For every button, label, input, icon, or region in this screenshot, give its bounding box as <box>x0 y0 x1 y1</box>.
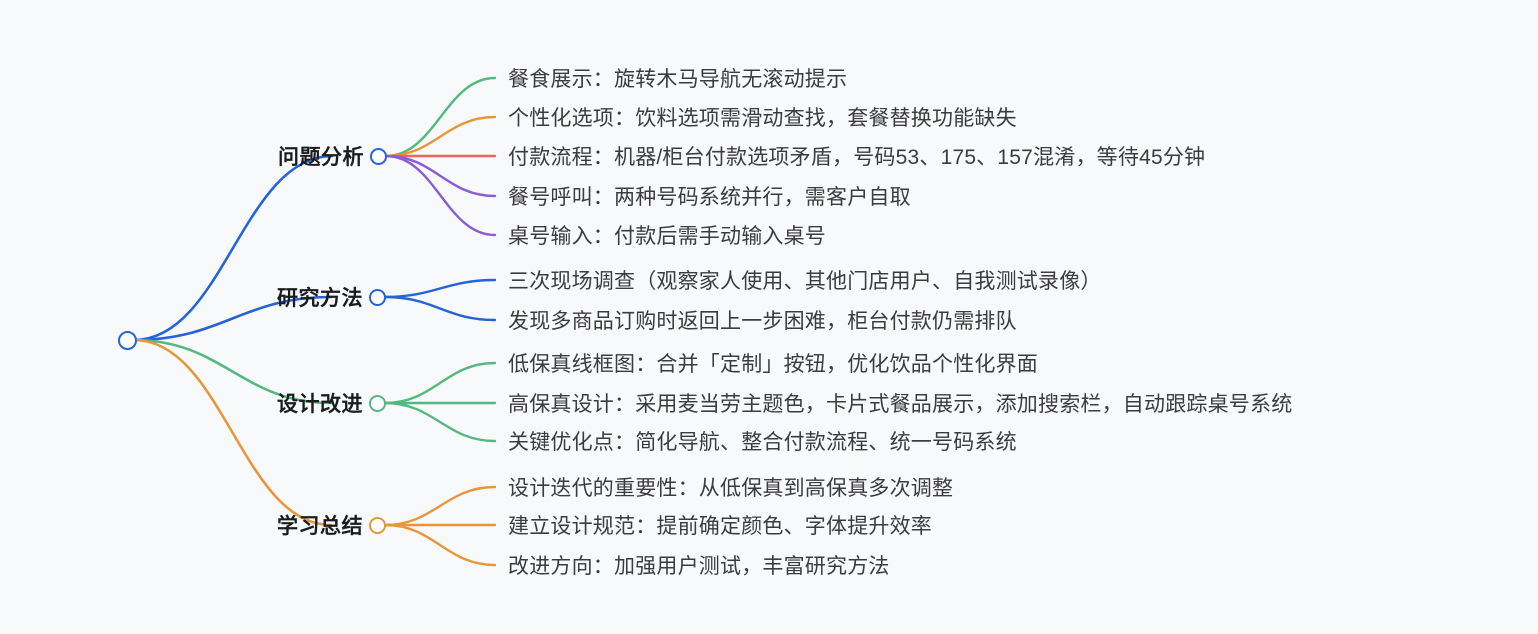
branch-label-1[interactable]: 问题分析 <box>278 141 364 171</box>
leaf-label-4-1[interactable]: 设计迭代的重要性：从低保真到高保真多次调整 <box>508 472 953 502</box>
branch-label-3[interactable]: 设计改进 <box>277 388 363 418</box>
edge-branch-1-to-leaf-1 <box>386 78 495 156</box>
edge-branch-1-to-leaf-2 <box>386 117 495 156</box>
branch-node-dot-4[interactable] <box>369 517 386 534</box>
edge-branch-4-to-leaf-3 <box>385 525 495 565</box>
edge-branch-2-to-leaf-1 <box>385 280 495 297</box>
leaf-label-3-3[interactable]: 关键优化点：简化导航、整合付款流程、统一号码系统 <box>508 426 1017 456</box>
edge-branch-3-to-leaf-3 <box>385 403 495 441</box>
edge-branch-1-to-leaf-4 <box>386 156 495 196</box>
leaf-label-1-4[interactable]: 餐号呼叫：两种号码系统并行，需客户自取 <box>508 181 911 211</box>
leaf-label-2-1[interactable]: 三次现场调查（观察家人使用、其他门店用户、自我测试录像） <box>508 265 1102 295</box>
edge-branch-4-to-leaf-1 <box>385 487 495 525</box>
leaf-label-1-3[interactable]: 付款流程：机器/柜台付款选项矛盾，号码53、175、157混淆，等待45分钟 <box>508 141 1205 171</box>
leaf-label-4-2[interactable]: 建立设计规范：提前确定颜色、字体提升效率 <box>508 510 932 540</box>
branch-node-dot-3[interactable] <box>369 395 386 412</box>
edge-root-to-branch-4 <box>134 340 331 525</box>
edge-branch-2-to-leaf-2 <box>385 297 495 320</box>
leaf-label-1-1[interactable]: 餐食展示：旋转木马导航无滚动提示 <box>508 63 847 93</box>
leaf-label-2-2[interactable]: 发现多商品订购时返回上一步困难，柜台付款仍需排队 <box>508 305 1017 335</box>
mindmap-canvas: 问题分析餐食展示：旋转木马导航无滚动提示个性化选项：饮料选项需滑动查找，套餐替换… <box>0 0 1538 634</box>
leaf-label-1-2[interactable]: 个性化选项：饮料选项需滑动查找，套餐替换功能缺失 <box>508 102 1017 132</box>
leaf-label-3-1[interactable]: 低保真线框图：合并「定制」按钮，优化饮品个性化界面 <box>508 348 1038 378</box>
root-node-dot[interactable] <box>118 331 137 350</box>
leaf-label-3-2[interactable]: 高保真设计：采用麦当劳主题色，卡片式餐品展示，添加搜索栏，自动跟踪桌号系统 <box>508 388 1292 418</box>
edge-root-to-branch-1 <box>134 156 332 340</box>
branch-label-4[interactable]: 学习总结 <box>277 510 363 540</box>
branch-node-dot-2[interactable] <box>369 289 386 306</box>
branch-node-dot-1[interactable] <box>370 148 387 165</box>
leaf-label-1-5[interactable]: 桌号输入：付款后需手动输入桌号 <box>508 220 826 250</box>
leaf-label-4-3[interactable]: 改进方向：加强用户测试，丰富研究方法 <box>508 550 890 580</box>
branch-label-2[interactable]: 研究方法 <box>277 282 363 312</box>
edge-branch-3-to-leaf-1 <box>385 363 495 403</box>
